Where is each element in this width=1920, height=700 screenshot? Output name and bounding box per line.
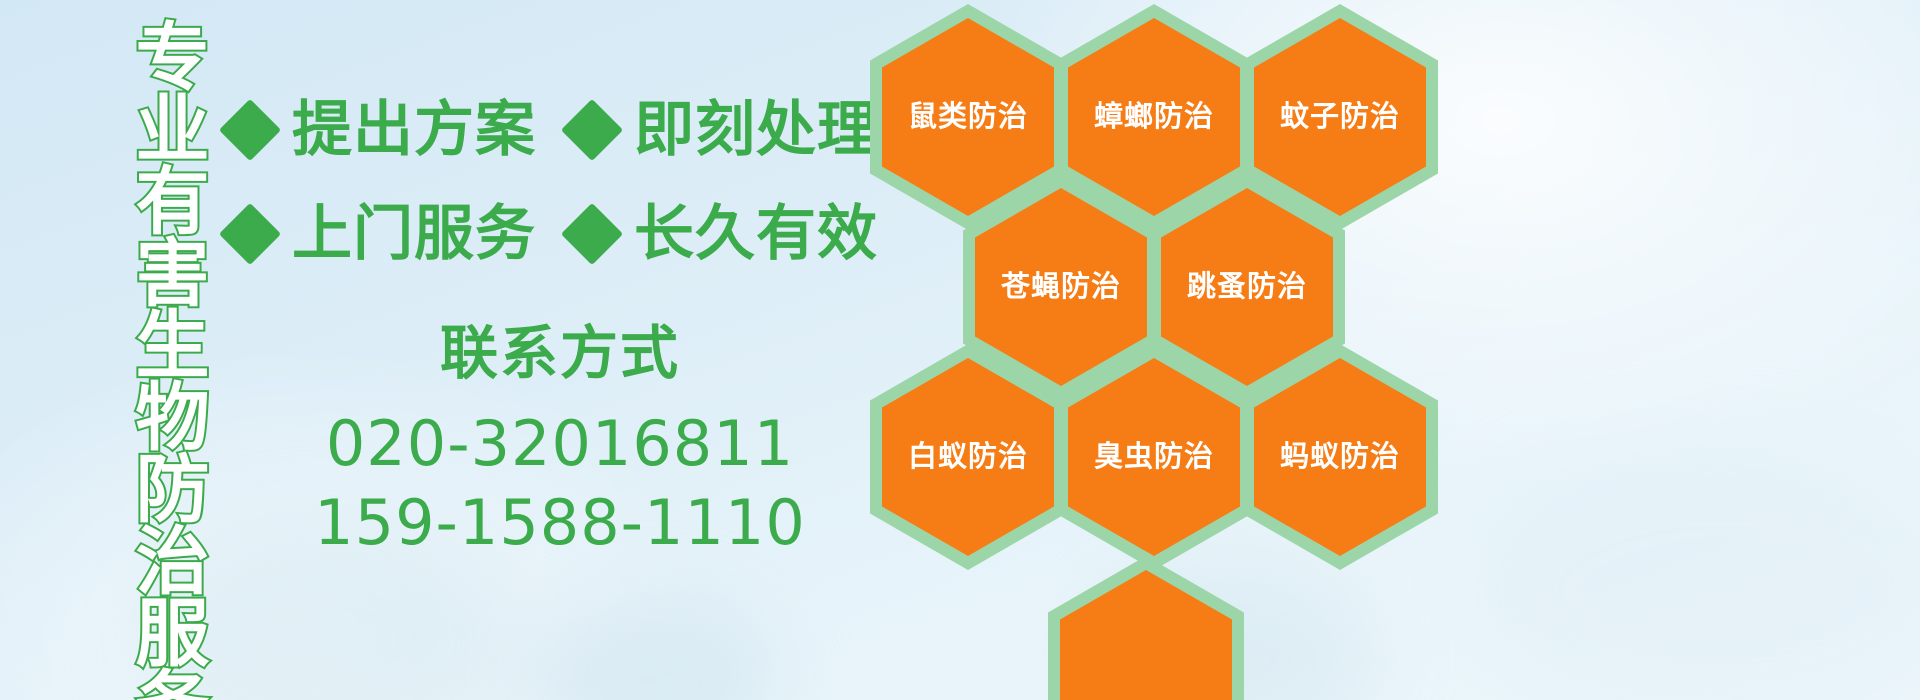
service-label: 鼠类防治 — [908, 103, 1028, 132]
service-label: 臭虫防治 — [1094, 443, 1214, 472]
hex-inner: 白蚁防治 — [882, 358, 1054, 556]
feature-list: 提出方案 即刻处理 上门服务 长久有效 — [228, 78, 888, 286]
background-blob — [520, 600, 780, 700]
hex-inner: 臭虫防治 — [1068, 358, 1240, 556]
contact-block: 联系方式 020-32016811 159-1588-1110 — [270, 322, 850, 563]
hex-inner: 跳蚤防治 — [1161, 188, 1333, 386]
feature-item-propose-plan[interactable]: 提出方案 — [228, 100, 536, 160]
service-label: 苍蝇防治 — [1001, 273, 1121, 302]
feature-label: 提出方案 — [292, 100, 536, 160]
feature-item-onsite-service[interactable]: 上门服务 — [228, 204, 536, 264]
phone-mobile[interactable]: 159-1588-1110 — [270, 483, 850, 562]
phone-landline[interactable]: 020-32016811 — [270, 404, 850, 483]
diamond-bullet-icon — [219, 99, 281, 161]
feature-label: 上门服务 — [292, 204, 536, 264]
feature-row: 提出方案 即刻处理 — [228, 78, 888, 182]
feature-label: 长久有效 — [634, 204, 878, 264]
service-honeycomb: 鼠类防治 蟑螂防治 蚊子防治 苍蝇防治 跳蚤防治 白蚁防治 — [856, 0, 1476, 552]
contact-title: 联系方式 — [270, 322, 850, 386]
feature-label: 即刻处理 — [634, 100, 878, 160]
service-label: 蟑螂防治 — [1094, 103, 1214, 132]
service-label: 蚊子防治 — [1280, 103, 1400, 132]
hex-inner: 苍蝇防治 — [975, 188, 1147, 386]
service-label: 跳蚤防治 — [1187, 273, 1307, 302]
feature-row: 上门服务 长久有效 — [228, 182, 888, 286]
diamond-bullet-icon — [561, 99, 623, 161]
hex-inner: 蚂蚁防治 — [1254, 358, 1426, 556]
hex-inner: 蟑螂防治 — [1068, 18, 1240, 216]
diamond-bullet-icon — [219, 203, 281, 265]
hex-inner: 蚊子防治 — [1254, 18, 1426, 216]
service-label: 蚂蚁防治 — [1280, 443, 1400, 472]
vertical-headline: 专业有害生物防治服务 — [110, 18, 202, 700]
service-label: 白蚁防治 — [908, 443, 1028, 472]
feature-item-immediate-handling[interactable]: 即刻处理 — [570, 100, 878, 160]
background-blob — [1460, 440, 1920, 700]
pest-control-banner: 专业有害生物防治服务 提出方案 即刻处理 上门服务 长久有效 联系方式 0 — [0, 0, 1920, 700]
feature-item-long-lasting[interactable]: 长久有效 — [570, 204, 878, 264]
hex-inner: 鼠类防治 — [882, 18, 1054, 216]
diamond-bullet-icon — [561, 203, 623, 265]
